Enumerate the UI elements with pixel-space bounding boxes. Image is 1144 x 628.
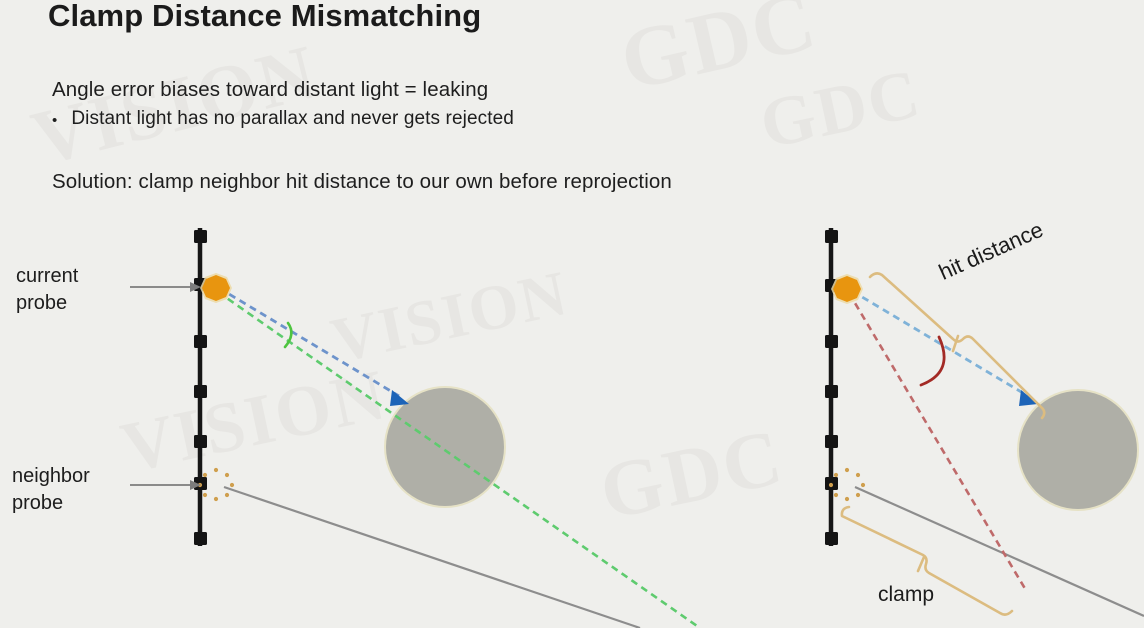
left-diagram-group — [130, 228, 700, 628]
left-blue-ray — [219, 288, 399, 396]
slide-canvas: VISION GDC GDC VISION GDC VISION Clamp D… — [0, 0, 1144, 628]
right-angle-arc — [921, 337, 944, 385]
left-current-probe-marker — [200, 273, 232, 303]
right-blue-ray-arrowhead — [1019, 390, 1038, 406]
right-blue-ray — [852, 291, 1028, 396]
left-neighbor-ray — [224, 487, 640, 628]
left-blue-ray-arrowhead — [390, 390, 409, 406]
left-sphere — [386, 388, 504, 506]
hit-distance-brace — [870, 273, 1044, 418]
right-current-probe-marker — [831, 274, 863, 304]
left-green-ray — [218, 292, 700, 628]
right-sphere — [1019, 391, 1137, 509]
right-diagram-group — [825, 228, 1144, 616]
diagram-artwork — [0, 0, 1144, 628]
left-label-arrows — [130, 282, 201, 490]
